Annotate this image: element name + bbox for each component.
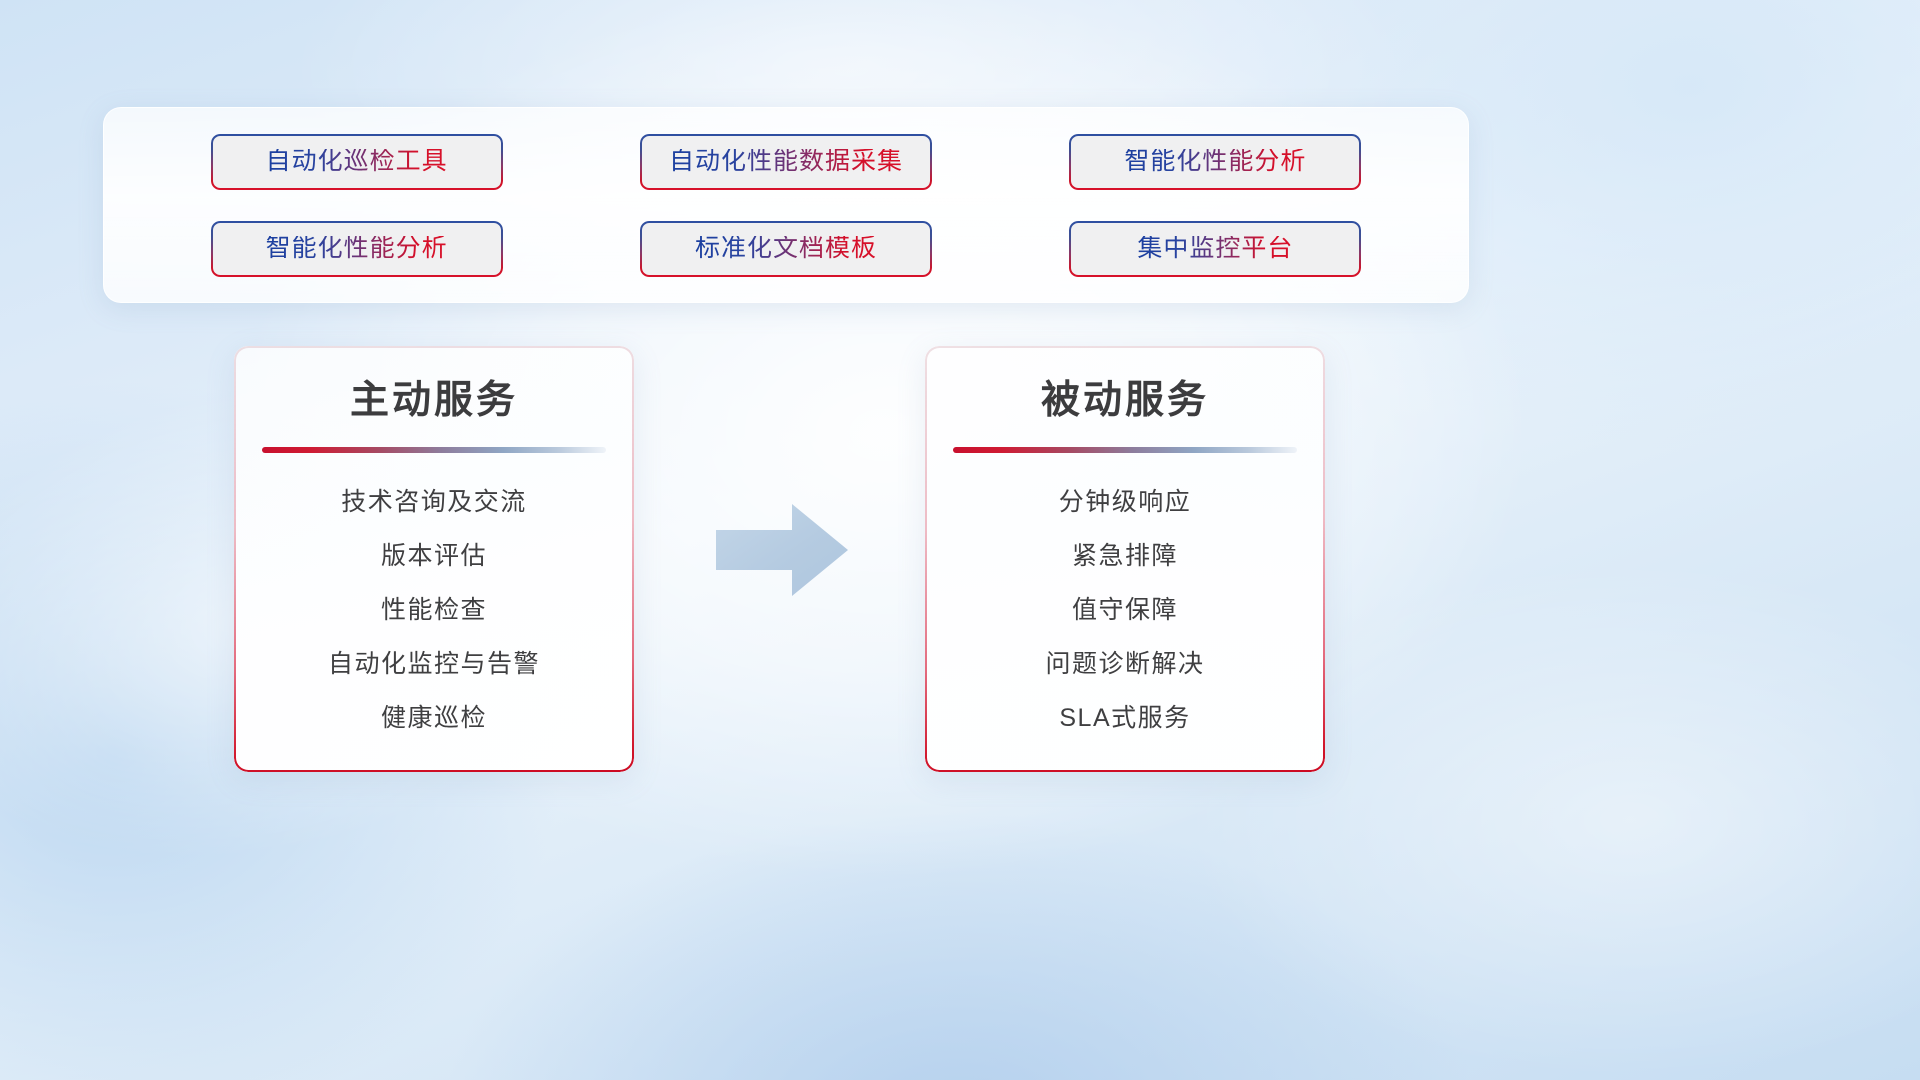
capability-pill-1[interactable]: 自动化巡检工具	[211, 134, 503, 190]
capability-pill-label: 自动化巡检工具	[266, 149, 448, 174]
capability-pill-5[interactable]: 标准化文档模板	[640, 221, 932, 277]
capability-pill-label: 集中监控平台	[1137, 236, 1293, 261]
capability-pill-label: 智能化性能分析	[1124, 149, 1306, 174]
service-item-list: 技术咨询及交流 版本评估 性能检查 自动化监控与告警 健康巡检	[256, 487, 612, 733]
card-title: 主动服务	[350, 378, 518, 425]
capability-pill-3[interactable]: 智能化性能分析	[1069, 134, 1361, 190]
service-item-list: 分钟级响应 紧急排障 值守保障 问题诊断解决 SLA式服务	[947, 487, 1303, 733]
list-item: SLA式服务	[1059, 703, 1190, 733]
capabilities-panel: 自动化巡检工具 自动化性能数据采集 智能化性能分析 智能化性能分析 标准化文档模…	[103, 107, 1469, 303]
capability-pill-6[interactable]: 集中监控平台	[1069, 221, 1361, 277]
service-card-reactive[interactable]: 被动服务 分钟级响应 紧急排障 值守保障 问题诊断解决 SLA式服务	[925, 346, 1325, 772]
list-item: 紧急排障	[1072, 541, 1178, 571]
service-card-proactive[interactable]: 主动服务 技术咨询及交流 版本评估 性能检查 自动化监控与告警 健康巡检	[234, 346, 634, 772]
arrow-right-icon	[712, 500, 852, 600]
capability-pill-label: 智能化性能分析	[266, 236, 448, 261]
list-item: 分钟级响应	[1059, 487, 1192, 517]
list-item: 健康巡检	[381, 703, 487, 733]
capability-pill-2[interactable]: 自动化性能数据采集	[640, 134, 932, 190]
list-item: 问题诊断解决	[1045, 649, 1204, 679]
card-divider	[953, 447, 1297, 453]
card-divider	[262, 447, 606, 453]
list-item: 技术咨询及交流	[341, 487, 527, 517]
capability-pill-4[interactable]: 智能化性能分析	[211, 221, 503, 277]
capability-pill-label: 标准化文档模板	[695, 236, 877, 261]
list-item: 自动化监控与告警	[328, 649, 540, 679]
capability-pill-label: 自动化性能数据采集	[669, 149, 903, 174]
slide-canvas: 自动化巡检工具 自动化性能数据采集 智能化性能分析 智能化性能分析 标准化文档模…	[0, 0, 1920, 1080]
card-title: 被动服务	[1041, 378, 1209, 425]
list-item: 性能检查	[381, 595, 487, 625]
list-item: 版本评估	[381, 541, 487, 571]
list-item: 值守保障	[1072, 595, 1178, 625]
